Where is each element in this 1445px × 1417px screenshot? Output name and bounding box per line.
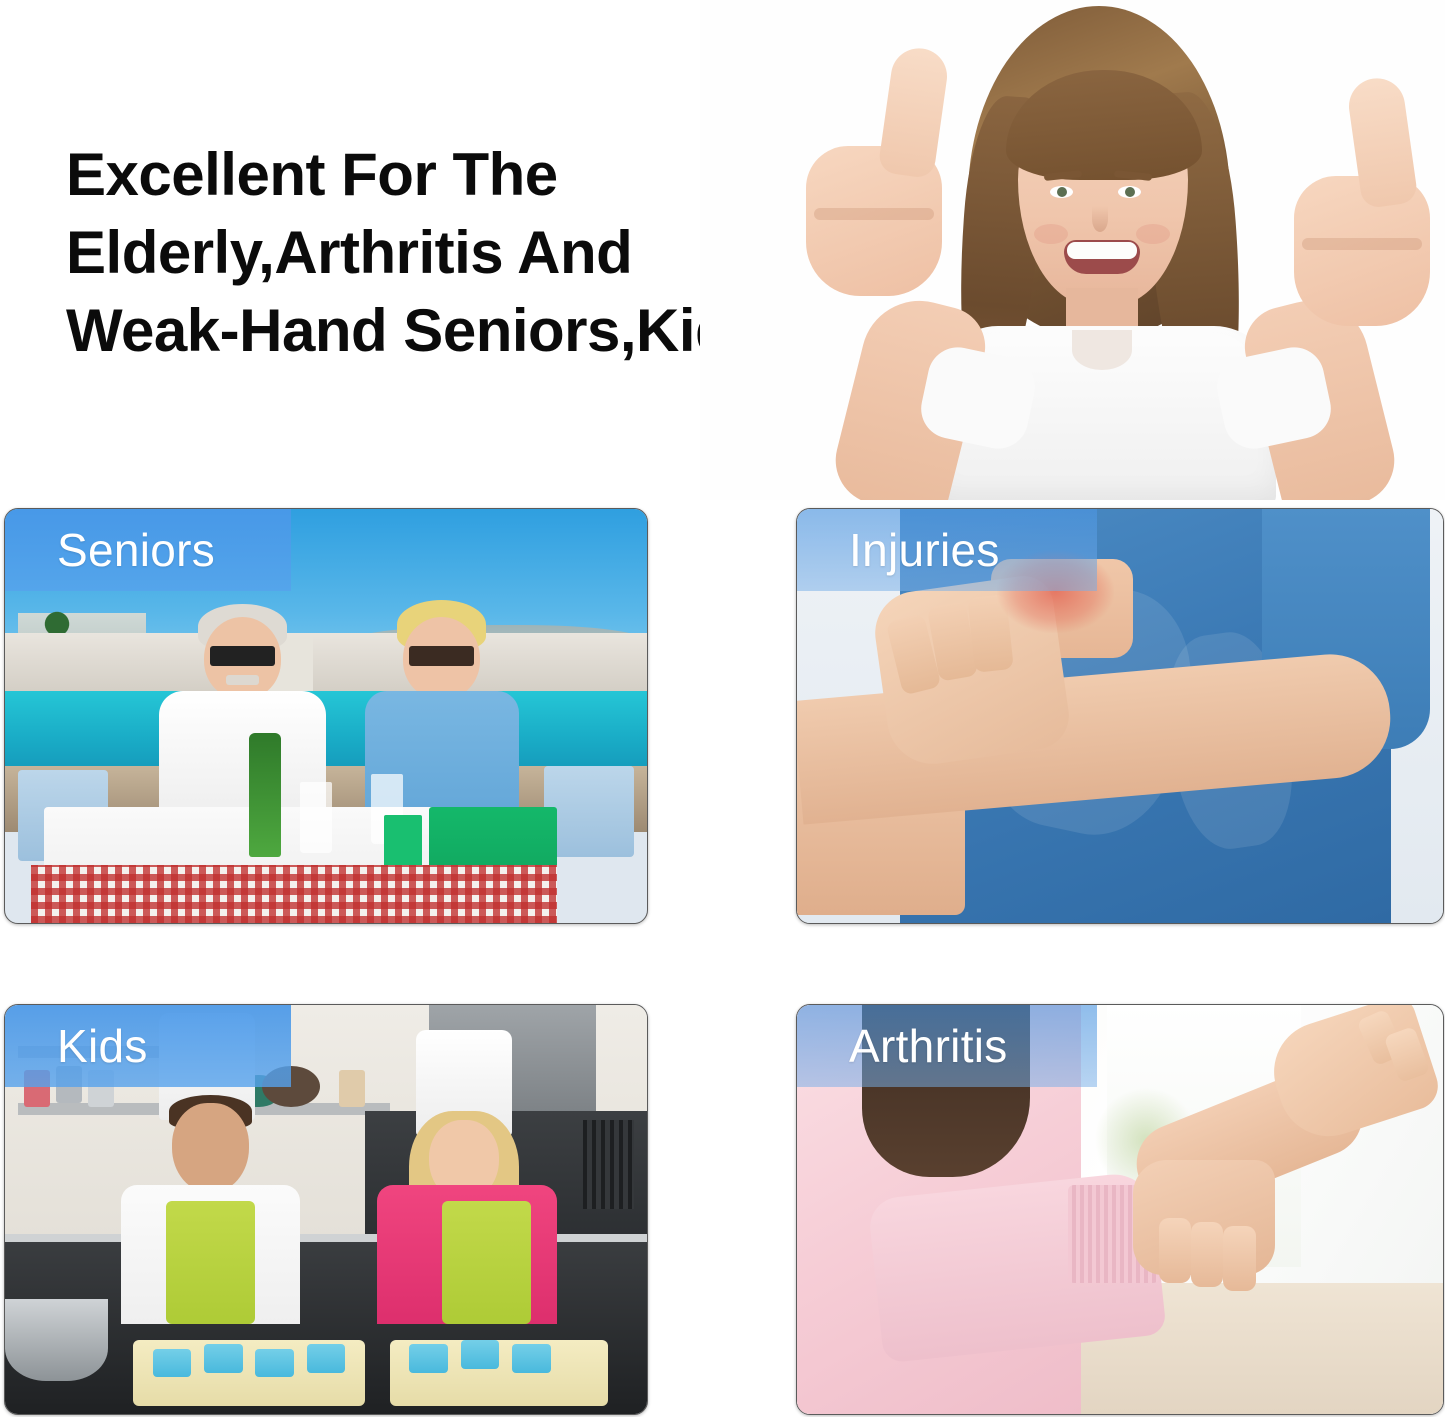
cookie-cutter-2 xyxy=(204,1344,243,1373)
hero-image-girl-thumbs-up xyxy=(700,0,1445,500)
boy-green-apron xyxy=(166,1201,256,1324)
mixing-bowl xyxy=(5,1299,108,1381)
girl-green-apron xyxy=(442,1201,532,1324)
senior-woman-sunglasses xyxy=(409,646,473,667)
card-label-arthritis: Arthritis xyxy=(797,1005,1097,1087)
cookie-cutter-5 xyxy=(409,1344,448,1373)
drinking-glass-left xyxy=(300,782,332,852)
card-label-text: Seniors xyxy=(57,527,215,573)
grip-finger-1 xyxy=(1159,1218,1191,1283)
girl-eye-right xyxy=(1118,186,1141,198)
girl-cheek-left xyxy=(1034,224,1068,244)
girl-teeth xyxy=(1067,242,1137,259)
cookie-cutter-6 xyxy=(461,1340,500,1369)
cookie-cutter-1 xyxy=(153,1349,192,1378)
gingham-tablecloth xyxy=(31,865,557,923)
girl-nose xyxy=(1092,206,1108,232)
boy-head xyxy=(172,1103,249,1193)
senior-man-sunglasses xyxy=(210,646,274,667)
senior-man-moustache xyxy=(226,675,258,685)
knife-block xyxy=(583,1120,634,1210)
card-label-text: Arthritis xyxy=(849,1023,1008,1069)
grip-finger-2 xyxy=(1191,1222,1223,1287)
infographic-canvas: Excellent For The Elderly,Arthritis And … xyxy=(0,0,1445,1417)
knuckles-right xyxy=(1302,238,1422,250)
card-label-kids: Kids xyxy=(5,1005,291,1087)
cookie-cutter-4 xyxy=(307,1344,346,1373)
card-label-text: Injuries xyxy=(849,527,1000,573)
town-waterfront xyxy=(5,633,647,691)
card-label-text: Kids xyxy=(57,1023,148,1069)
card-label-seniors: Seniors xyxy=(5,509,291,591)
girl-smile xyxy=(1064,240,1140,274)
use-case-card-injuries[interactable]: Injuries xyxy=(796,508,1444,924)
chair-right xyxy=(544,766,634,857)
cookie-cutter-7 xyxy=(512,1344,551,1373)
use-case-card-kids[interactable]: Kids xyxy=(4,1004,648,1415)
knuckles-left xyxy=(814,208,934,220)
grip-finger-3 xyxy=(1223,1226,1255,1291)
use-case-card-arthritis[interactable]: Arthritis xyxy=(796,1004,1444,1415)
girl-collar xyxy=(1072,330,1132,370)
girl-cheek-right xyxy=(1136,224,1170,244)
use-case-card-seniors[interactable]: Seniors xyxy=(4,508,648,924)
spice-jar xyxy=(339,1070,365,1107)
cookie-cutter-3 xyxy=(255,1349,294,1378)
card-label-injuries: Injuries xyxy=(797,509,1097,591)
beer-bottle xyxy=(249,733,281,857)
girl-eye-left xyxy=(1050,186,1073,198)
